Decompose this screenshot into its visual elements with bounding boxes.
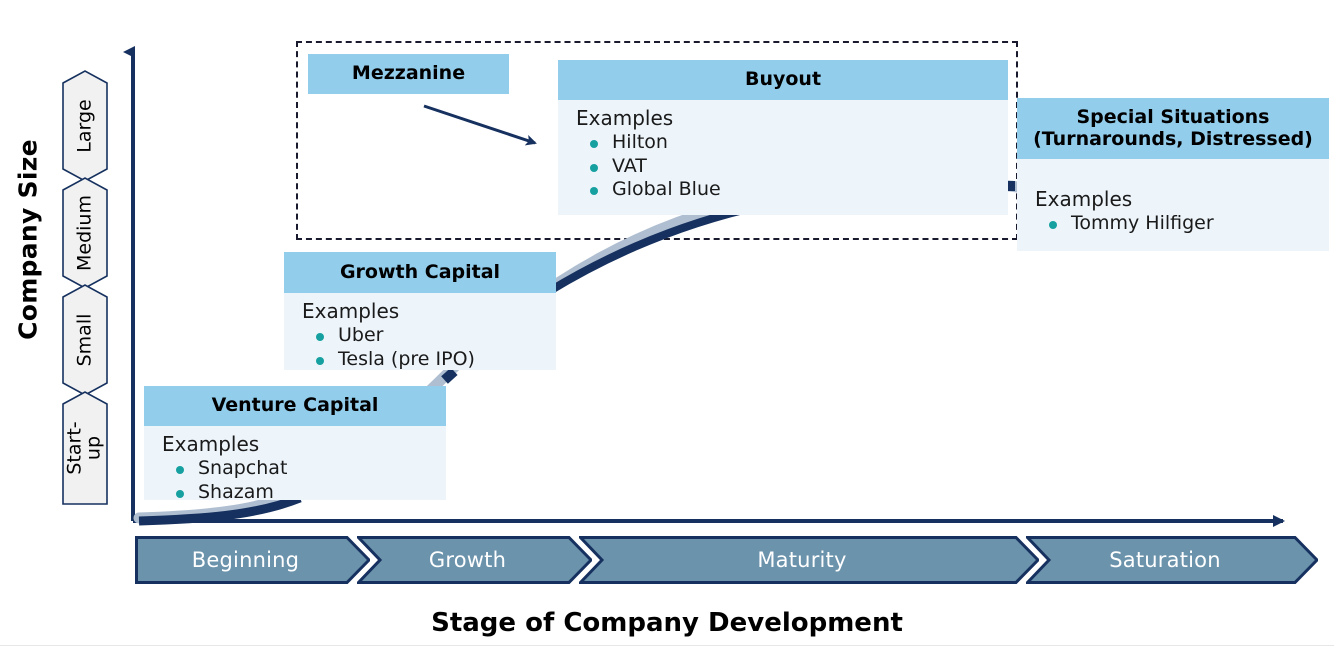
card-special-situations-body: Examples Tommy Hilfiger bbox=[1017, 159, 1329, 251]
list-item: Global Blue bbox=[590, 178, 1008, 202]
x-axis-title: Stage of Company Development bbox=[0, 608, 1334, 638]
stage-chevron-saturation[interactable]: Saturation bbox=[1026, 536, 1318, 584]
stage-label: Maturity bbox=[579, 536, 1039, 584]
stage-label: Beginning bbox=[135, 536, 370, 584]
list-item: Tommy Hilfiger bbox=[1049, 212, 1329, 236]
bullet-icon bbox=[590, 140, 598, 148]
bullet-icon bbox=[1049, 221, 1057, 229]
stage-chevron-maturity[interactable]: Maturity bbox=[579, 536, 1039, 584]
examples-label: Examples bbox=[1035, 188, 1329, 211]
card-buyout: Buyout Examples Hilton VAT Global Blue bbox=[558, 60, 1008, 215]
examples-list: Tommy Hilfiger bbox=[1035, 212, 1329, 236]
list-item: VAT bbox=[590, 155, 1008, 179]
list-item: Hilton bbox=[590, 131, 1008, 155]
example-name: Global Blue bbox=[612, 178, 721, 200]
stage-chevron-growth[interactable]: Growth bbox=[357, 536, 592, 584]
stage-label: Growth bbox=[357, 536, 592, 584]
card-buyout-body: Examples Hilton VAT Global Blue bbox=[558, 100, 1008, 215]
stage-chevron-beginning[interactable]: Beginning bbox=[135, 536, 370, 584]
bullet-icon bbox=[590, 187, 598, 195]
card-special-situations-title: Special Situations (Turnarounds, Distres… bbox=[1017, 98, 1329, 159]
stage-chevron-bar: Beginning Growth Maturity Saturation bbox=[135, 536, 1318, 584]
example-name: VAT bbox=[612, 155, 647, 177]
card-special-situations: Special Situations (Turnarounds, Distres… bbox=[1017, 98, 1329, 251]
card-buyout-title: Buyout bbox=[558, 60, 1008, 100]
bullet-icon bbox=[590, 164, 598, 172]
examples-list: Hilton VAT Global Blue bbox=[576, 131, 1008, 202]
stage-label: Saturation bbox=[1026, 536, 1318, 584]
examples-label: Examples bbox=[576, 107, 1008, 130]
example-name: Hilton bbox=[612, 131, 668, 153]
example-name: Tommy Hilfiger bbox=[1071, 212, 1214, 234]
diagram-canvas: Company Size Large Medium Small Start- bbox=[0, 0, 1334, 649]
bottom-divider bbox=[0, 645, 1334, 646]
